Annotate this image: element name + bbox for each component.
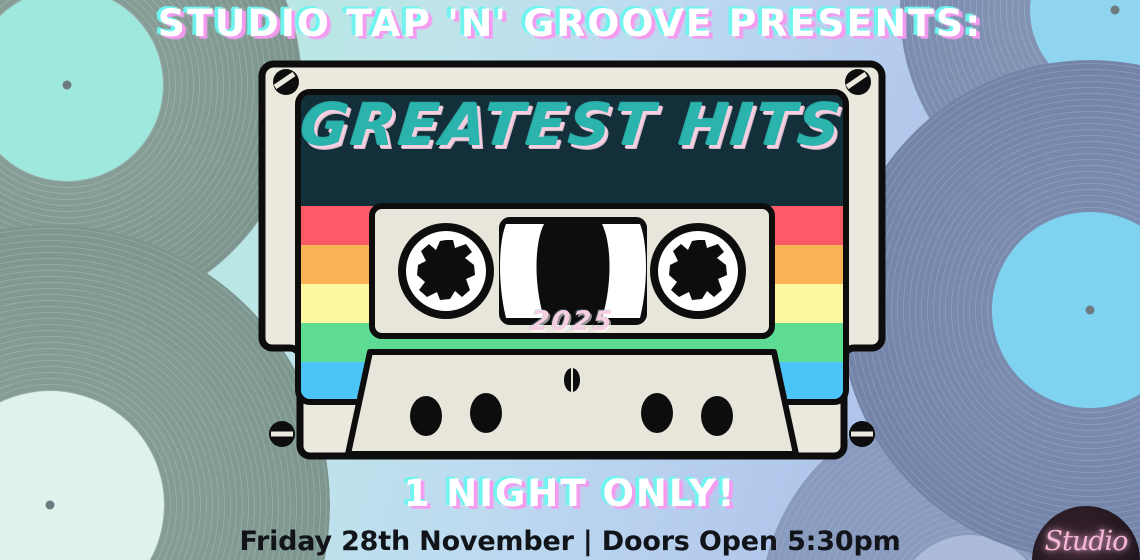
cassette-screw-bottom-right <box>849 421 875 447</box>
cassette-tape-window <box>500 220 646 322</box>
headline-one-night-only: 1 NIGHT ONLY! <box>0 472 1140 516</box>
headline-presents: STUDIO TAP 'N' GROOVE PRESENTS: <box>0 2 1140 46</box>
cassette-hole-1 <box>410 396 442 436</box>
vinyl-spindle-hole <box>63 81 72 90</box>
vinyl-spindle-hole <box>1086 306 1095 315</box>
cassette-screw-top-left <box>273 69 299 95</box>
cassette-hole-2 <box>470 393 502 433</box>
cassette-right-reel <box>650 223 746 319</box>
cassette-center-pin <box>564 368 580 392</box>
cassette-tape-illustration: GREATEST HITS 2025 <box>258 58 886 462</box>
cassette-svg <box>258 58 886 462</box>
cassette-hole-3 <box>641 393 673 433</box>
cassette-screw-bottom-left <box>269 421 295 447</box>
event-date-line: Friday 28th November | Doors Open 5:30pm <box>0 527 1140 557</box>
studio-logo-script-text: Studio <box>1032 526 1140 557</box>
cassette-hole-4 <box>701 396 733 436</box>
cassette-left-reel <box>398 223 494 319</box>
event-poster: STUDIO TAP 'N' GROOVE PRESENTS: <box>0 0 1140 560</box>
cassette-screw-top-right <box>845 69 871 95</box>
